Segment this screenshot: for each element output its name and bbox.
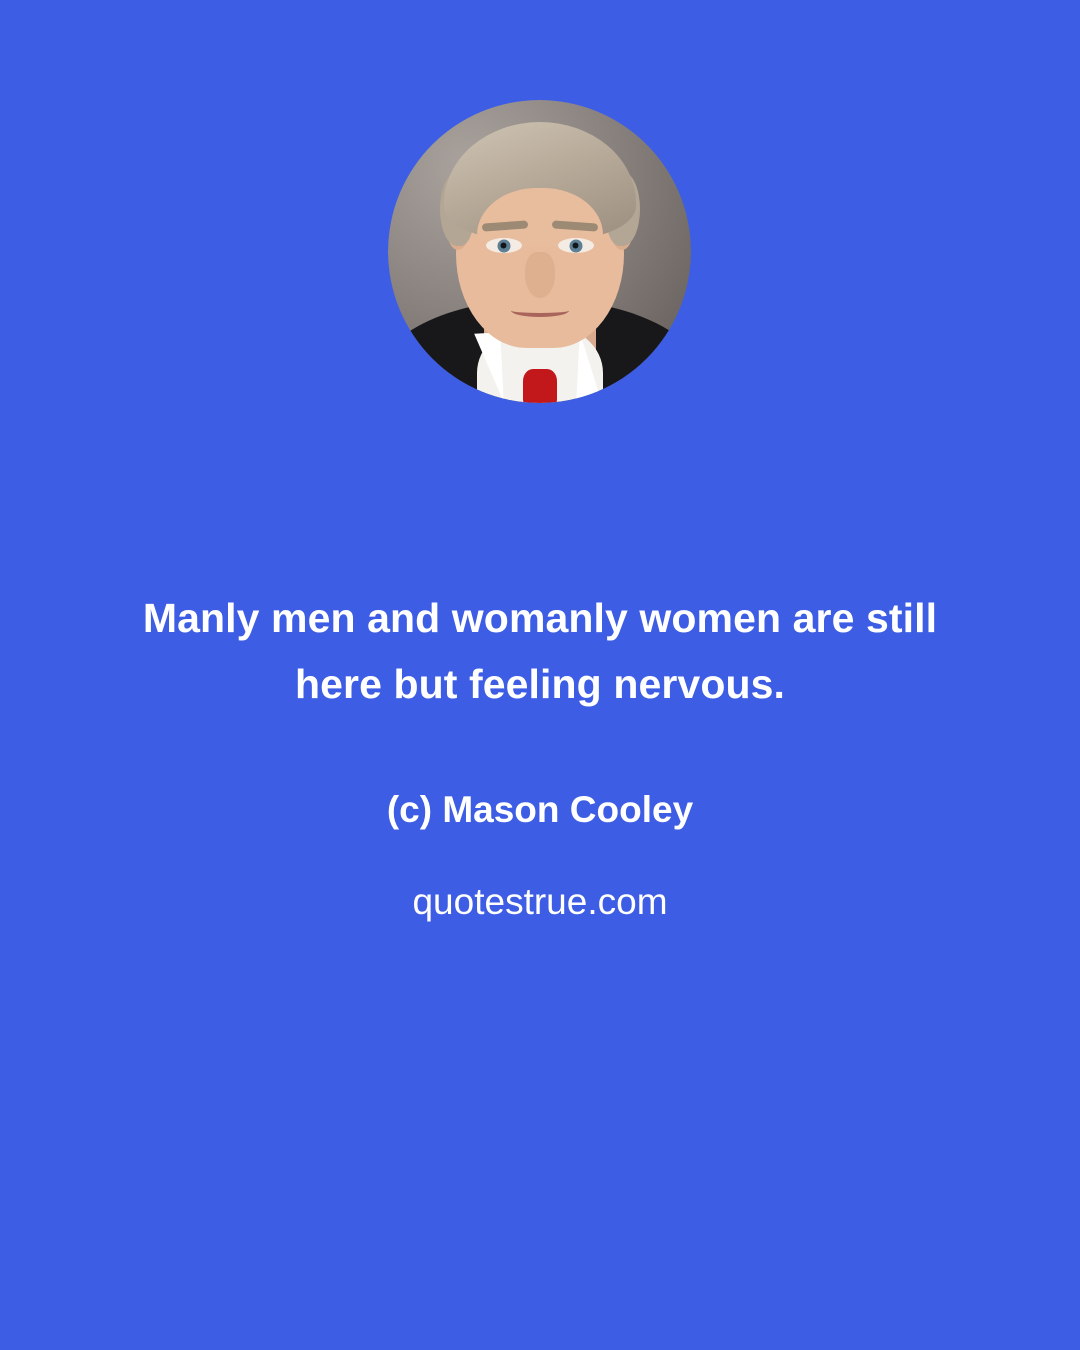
quote-line-1: Manly men and womanly women are still <box>40 585 1040 651</box>
quote-card: Manly men and womanly women are still he… <box>0 0 1080 1350</box>
nose-shape <box>525 252 555 298</box>
iris-right-shape <box>569 239 582 252</box>
quote-line-2: here but feeling nervous. <box>40 651 1040 717</box>
eye-right-shape <box>558 238 594 253</box>
site-watermark: quotestrue.com <box>0 880 1080 924</box>
portrait-image <box>388 100 691 403</box>
author-avatar <box>388 100 691 403</box>
necktie-shape <box>523 369 557 403</box>
eye-left-shape <box>486 238 522 253</box>
mouth-shape <box>511 304 569 317</box>
collar-left-shape <box>474 332 504 403</box>
quote-text: Manly men and womanly women are still he… <box>40 585 1040 718</box>
collar-right-shape <box>576 332 606 403</box>
iris-left-shape <box>497 239 510 252</box>
quote-attribution: (c) Mason Cooley <box>0 788 1080 832</box>
hair-shape <box>444 122 636 240</box>
